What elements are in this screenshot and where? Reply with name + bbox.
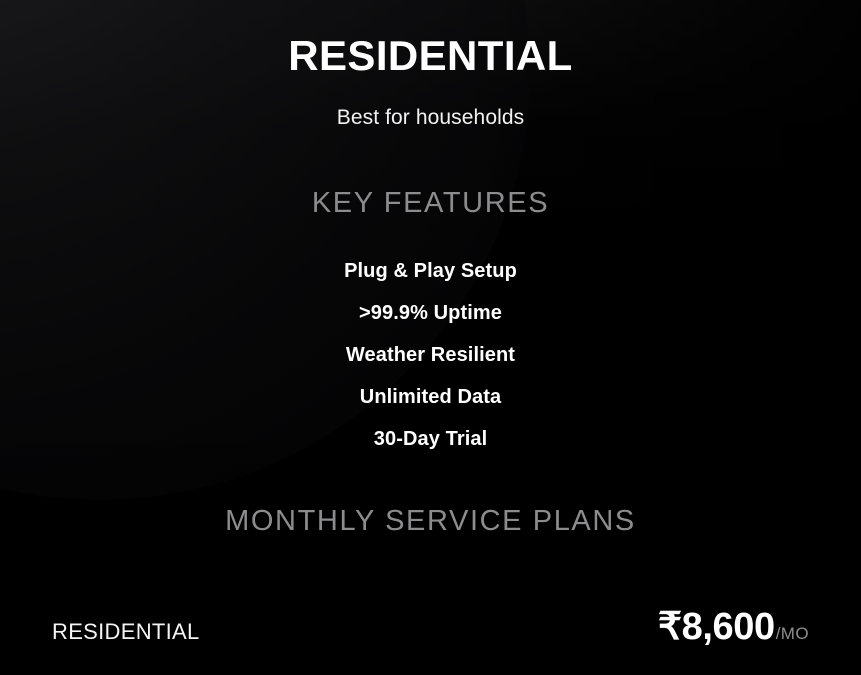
monthly-service-plans-heading: MONTHLY SERVICE PLANS	[0, 460, 861, 538]
key-features-heading: KEY FEATURES	[0, 130, 861, 220]
key-features-list: Plug & Play Setup >99.9% Uptime Weather …	[0, 220, 861, 460]
list-item: >99.9% Uptime	[0, 292, 861, 334]
list-item: Plug & Play Setup	[0, 250, 861, 292]
residential-plan-card: RESIDENTIAL Best for households KEY FEAT…	[0, 0, 861, 675]
list-item: 30-Day Trial	[0, 418, 861, 460]
page-title: RESIDENTIAL	[0, 34, 861, 78]
plan-row-name: RESIDENTIAL	[52, 619, 200, 645]
price-period: /MO	[776, 624, 809, 644]
price-group: ₹8,600 /MO	[658, 604, 809, 649]
price-amount: ₹8,600	[658, 604, 775, 649]
plan-price-row[interactable]: RESIDENTIAL ₹8,600 /MO	[0, 604, 861, 675]
layout-spacer	[0, 538, 861, 604]
card-header: RESIDENTIAL Best for households	[0, 0, 861, 130]
plan-subtitle: Best for households	[0, 78, 861, 130]
list-item: Weather Resilient	[0, 334, 861, 376]
list-item: Unlimited Data	[0, 376, 861, 418]
card-content: RESIDENTIAL Best for households KEY FEAT…	[0, 0, 861, 675]
